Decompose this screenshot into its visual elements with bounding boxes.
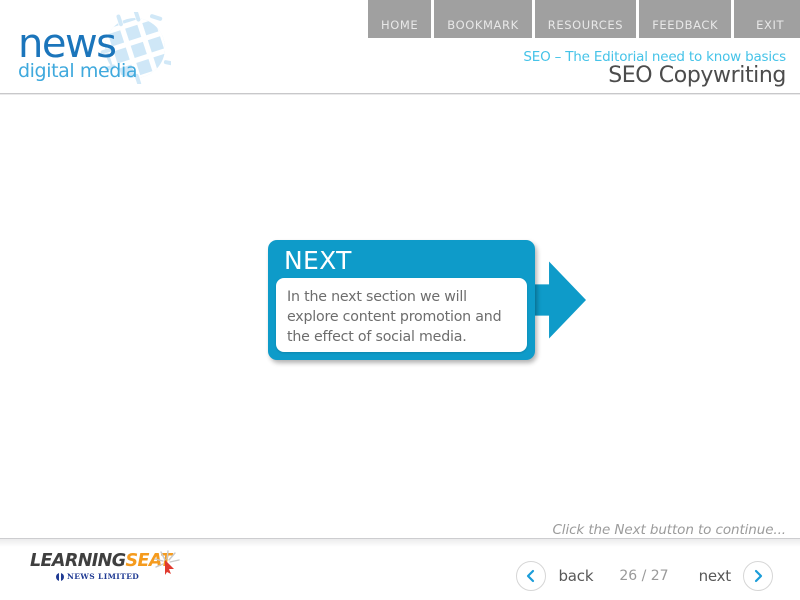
nav-bookmark[interactable]: BOOKMARK: [434, 0, 531, 38]
page-title: SEO Copywriting: [608, 63, 786, 88]
nav-feedback[interactable]: FEEDBACK: [639, 0, 731, 38]
page-counter: 26 / 27: [619, 568, 668, 584]
header-divider: [0, 93, 800, 94]
continue-hint: Click the Next button to continue...: [552, 522, 786, 538]
callout-heading: NEXT: [284, 246, 352, 275]
slide-pager: back 26 / 27 next: [516, 558, 773, 594]
next-button[interactable]: [743, 561, 773, 591]
nav-bookmark-label: BOOKMARK: [447, 18, 518, 32]
elearning-slide: news digital media HOME BOOKMARK RESOURC…: [0, 0, 800, 600]
nav-resources[interactable]: RESOURCES: [535, 0, 636, 38]
logo-text-news: news: [18, 25, 148, 63]
next-label[interactable]: next: [699, 567, 731, 585]
back-button[interactable]: [516, 561, 546, 591]
ls-word-learning: LEARNING: [30, 551, 126, 571]
nav-home[interactable]: HOME: [368, 0, 431, 38]
footer-divider: [0, 538, 800, 539]
page-header: news digital media HOME BOOKMARK RESOURC…: [0, 0, 800, 95]
news-limited-mark: NEWS LIMITED: [56, 572, 139, 581]
nav-exit[interactable]: EXIT: [734, 0, 800, 38]
top-navigation: HOME BOOKMARK RESOURCES FEEDBACK EXIT: [368, 0, 800, 38]
chevron-right-icon: [751, 569, 765, 583]
starburst-icon: [152, 550, 182, 576]
nav-feedback-label: FEEDBACK: [652, 18, 718, 32]
learning-seat-logo: LEARNINGSEAT NEWS LIMITED: [30, 552, 200, 588]
nav-exit-label: EXIT: [756, 18, 784, 32]
nav-resources-label: RESOURCES: [548, 18, 623, 32]
footer-shadow: [0, 538, 800, 547]
callout-body-panel: In the next section we will explore cont…: [276, 278, 527, 352]
chevron-left-icon: [524, 569, 538, 583]
callout-body-text: In the next section we will explore cont…: [287, 287, 515, 347]
news-digital-media-wordmark: news digital media: [18, 25, 148, 82]
news-limited-text: NEWS LIMITED: [67, 572, 139, 581]
next-section-callout: NEXT In the next section we will explore…: [268, 240, 586, 360]
logo-text-digital-media: digital media: [18, 61, 148, 82]
news-digital-media-logo: news digital media: [16, 10, 186, 86]
slide-content: NEXT In the next section we will explore…: [0, 95, 800, 538]
news-limited-icon: [56, 573, 64, 581]
nav-home-label: HOME: [381, 18, 418, 32]
back-label[interactable]: back: [558, 567, 593, 585]
page-footer: LEARNINGSEAT NEWS LIMITED: [0, 538, 800, 600]
